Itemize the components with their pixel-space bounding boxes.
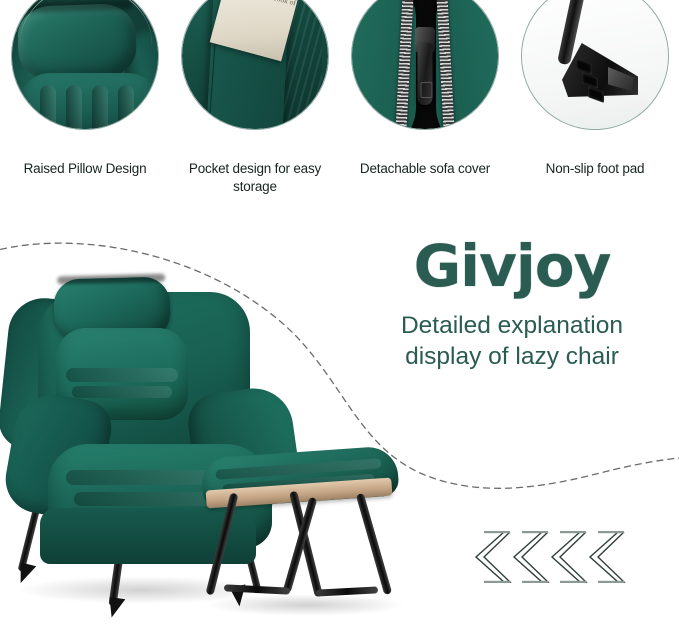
feature-item-non-slip-foot: Non-slip foot pad — [510, 0, 679, 215]
chevron-bottom-accent-3 — [560, 581, 586, 583]
book-title-text: My Very First Book of — [228, 0, 298, 9]
feature-caption-detachable-cover: Detachable sofa cover — [344, 160, 506, 178]
brand-tagline-line-1: Detailed explanation — [352, 310, 672, 341]
feature-item-raised-pillow: Raised Pillow Design — [0, 0, 170, 215]
feature-caption-raised-pillow: Raised Pillow Design — [4, 160, 166, 178]
product-infographic-page: Raised Pillow Design My Very First Book … — [0, 0, 679, 625]
feature-image-pocket-design: My Very First Book of — [181, 0, 329, 130]
feature-image-raised-pillow — [11, 0, 159, 130]
zipper-pull-icon — [418, 43, 433, 105]
feature-item-pocket-design: My Very First Book of Pocket design for … — [170, 0, 340, 215]
chevron-bottom-accent-4 — [598, 581, 624, 583]
chevron-left-icon-4 — [590, 532, 624, 582]
chevron-bottom-accent-2 — [522, 581, 548, 583]
chevron-top-accent-1 — [484, 531, 510, 533]
feature-image-detachable-cover — [351, 0, 499, 130]
feature-item-detachable-cover: Detachable sofa cover — [340, 0, 510, 215]
brand-name: Givjoy — [352, 236, 672, 296]
chevron-group-icon — [470, 528, 630, 586]
chevron-bottom-accent-1 — [484, 581, 510, 583]
chevron-left-icon-1 — [476, 532, 510, 582]
chevron-left-icon-3 — [552, 532, 586, 582]
brand-tagline-line-2: display of lazy chair — [352, 341, 672, 372]
brand-tagline: Detailed explanation display of lazy cha… — [352, 310, 672, 372]
feature-image-non-slip-foot — [521, 0, 669, 130]
feature-strip: Raised Pillow Design My Very First Book … — [0, 0, 679, 215]
feature-caption-pocket-design: Pocket design for easy storage — [174, 160, 336, 196]
chevron-top-accent-4 — [598, 531, 624, 533]
chevron-left-icon-2 — [514, 532, 548, 582]
chevron-top-accent-2 — [522, 531, 548, 533]
brand-block: Givjoy Detailed explanation display of l… — [352, 236, 672, 372]
chevron-top-accent-3 — [560, 531, 586, 533]
feature-caption-non-slip-foot: Non-slip foot pad — [514, 160, 676, 178]
